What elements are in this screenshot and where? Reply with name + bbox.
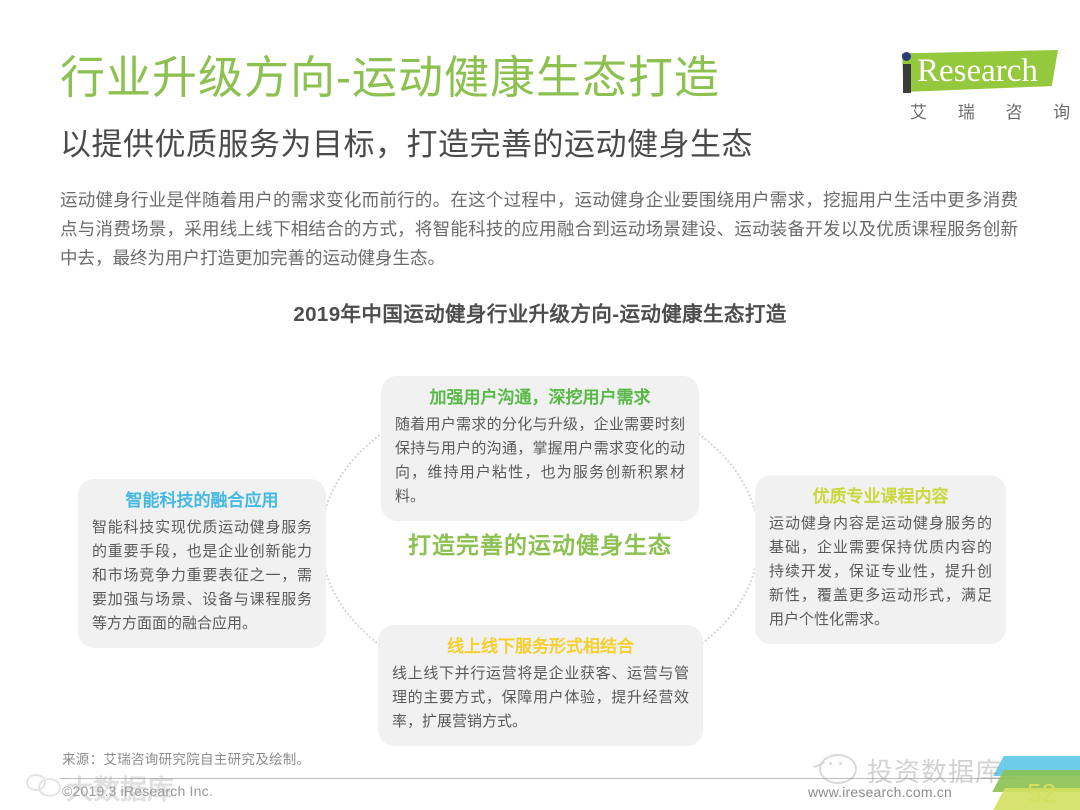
slide-header: 行业升级方向-运动健康生态打造 以提供优质服务为目标，打造完善的运动健身生态 R… <box>0 0 1080 180</box>
diagram-node-bottom[interactable]: 线上线下服务形式相结合 线上线下并行运营将是企业获客、运营与管理的主要方式，保障… <box>378 625 703 746</box>
ecosystem-diagram: 打造完善的运动健身生态 加强用户沟通，深挖用户需求 随着用户需求的分化与升级，企… <box>0 340 1080 740</box>
source-note: 来源：艾瑞咨询研究院自主研究及绘制。 <box>62 748 310 768</box>
slide-page: 行业升级方向-运动健康生态打造 以提供优质服务为目标，打造完善的运动健身生态 R… <box>0 0 1080 810</box>
node-title: 线上线下服务形式相结合 <box>392 635 689 659</box>
copyright-text: ©2019.3 iResearch Inc. <box>62 783 213 799</box>
wechat-tail-icon <box>813 762 825 768</box>
diagram-node-right[interactable]: 优质专业课程内容 运动健身内容是运动健身服务的基础，企业需要保持优质内容的持续开… <box>755 475 1006 644</box>
node-title: 智能科技的融合应用 <box>92 489 312 513</box>
chart-title: 2019年中国运动健身行业升级方向-运动健康生态打造 <box>0 297 1080 327</box>
logo-chinese-name: 艾 瑞 咨 询 <box>910 98 1080 123</box>
logo-mark: Research <box>872 48 1058 96</box>
footer-divider <box>60 778 1020 779</box>
watermark-bubble-icon <box>26 772 60 796</box>
node-body: 运动健身内容是运动健身服务的基础，企业需要保持优质内容的持续开发，保证专业性，提… <box>769 512 992 632</box>
node-title: 优质专业课程内容 <box>769 485 992 509</box>
node-body: 随着用户需求的分化与升级，企业需要时刻保持与用户的沟通，掌握用户需求变化的动向，… <box>395 413 685 509</box>
wechat-eye-left-icon <box>829 762 832 765</box>
logo-i-dot-icon <box>902 52 911 61</box>
watermark-bubble-small-icon <box>26 774 46 791</box>
node-body: 智能科技实现优质运动健身服务的重要手段，也是企业创新能力和市场竞争力重要表征之一… <box>92 516 312 636</box>
logo-wordmark: Research <box>917 52 1038 90</box>
watermark-bubble-large-icon <box>38 778 61 797</box>
wechat-bubble-icon <box>819 754 857 784</box>
diagram-node-left[interactable]: 智能科技的融合应用 智能科技实现优质运动健身服务的重要手段，也是企业创新能力和市… <box>78 479 326 648</box>
node-title: 加强用户沟通，深挖用户需求 <box>395 386 685 410</box>
node-body: 线上线下并行运营将是企业获客、运营与管理的主要方式，保障用户体验，提升经营效率，… <box>392 662 689 734</box>
diagram-node-top[interactable]: 加强用户沟通，深挖用户需求 随着用户需求的分化与升级，企业需要时刻保持与用户的沟… <box>381 376 699 521</box>
page-number: 52 <box>1027 778 1056 809</box>
website-url[interactable]: www.iresearch.com.cn <box>808 784 952 800</box>
wechat-icon <box>813 754 863 784</box>
wechat-eye-right-icon <box>839 762 842 765</box>
intro-paragraph: 运动健身行业是伴随着用户的需求变化而前行的。在这个过程中，运动健身企业要围绕用户… <box>60 186 1018 273</box>
page-subtitle: 以提供优质服务为目标，打造完善的运动健身生态 <box>60 126 753 164</box>
iresearch-logo: Research 艾 瑞 咨 询 <box>872 48 1062 126</box>
corner-ribbon-decoration <box>960 756 1080 810</box>
page-title: 行业升级方向-运动健康生态打造 <box>60 52 720 104</box>
diagram-center-label: 打造完善的运动健身生态 <box>320 526 760 560</box>
logo-i-stem-icon <box>903 64 911 93</box>
